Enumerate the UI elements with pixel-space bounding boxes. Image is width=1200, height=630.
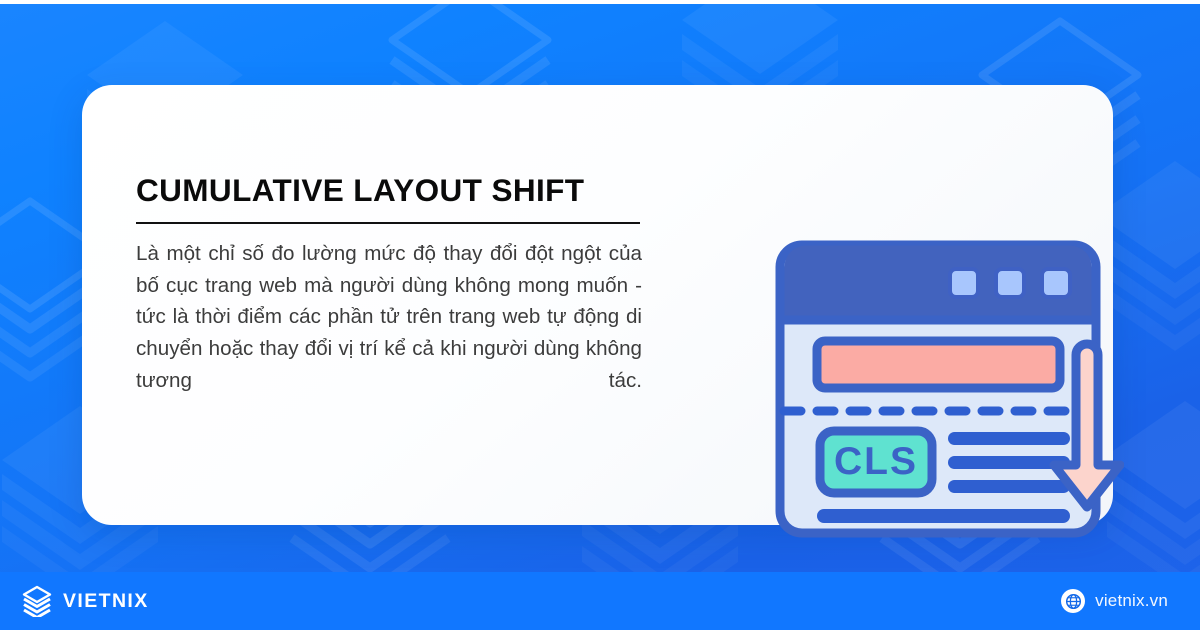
description-paragraph: Là một chỉ số đo lường mức độ thay đổi đ… <box>136 238 642 398</box>
title-underline-rule <box>136 222 640 224</box>
pink-banner-block <box>817 341 1060 388</box>
globe-icon <box>1061 589 1085 613</box>
brand-lockup: VIETNIX <box>22 585 149 617</box>
cls-illustration: CLS <box>772 233 1124 553</box>
window-button-3 <box>1042 269 1070 297</box>
banner-canvas: CUMULATIVE LAYOUT SHIFT Là một chỉ số đo… <box>0 0 1200 630</box>
brand-name-label: VIETNIX <box>63 590 149 613</box>
footer-bar: VIETNIX vietnix.vn <box>0 572 1200 630</box>
content-line-1 <box>948 432 1070 445</box>
window-button-2 <box>996 269 1024 297</box>
content-card: CUMULATIVE LAYOUT SHIFT Là một chỉ số đo… <box>82 85 1113 525</box>
window-button-1 <box>950 269 978 297</box>
site-url-label: vietnix.vn <box>1095 591 1168 611</box>
card-text-block: CUMULATIVE LAYOUT SHIFT Là một chỉ số đo… <box>136 173 644 397</box>
stacked-layers-icon <box>22 585 52 617</box>
content-line-3 <box>948 480 1070 493</box>
page-title: CUMULATIVE LAYOUT SHIFT <box>136 173 644 208</box>
top-white-strip <box>0 0 1200 4</box>
site-link[interactable]: vietnix.vn <box>1061 589 1178 613</box>
content-line-4 <box>817 509 1070 523</box>
cls-badge-label: CLS <box>834 440 918 483</box>
